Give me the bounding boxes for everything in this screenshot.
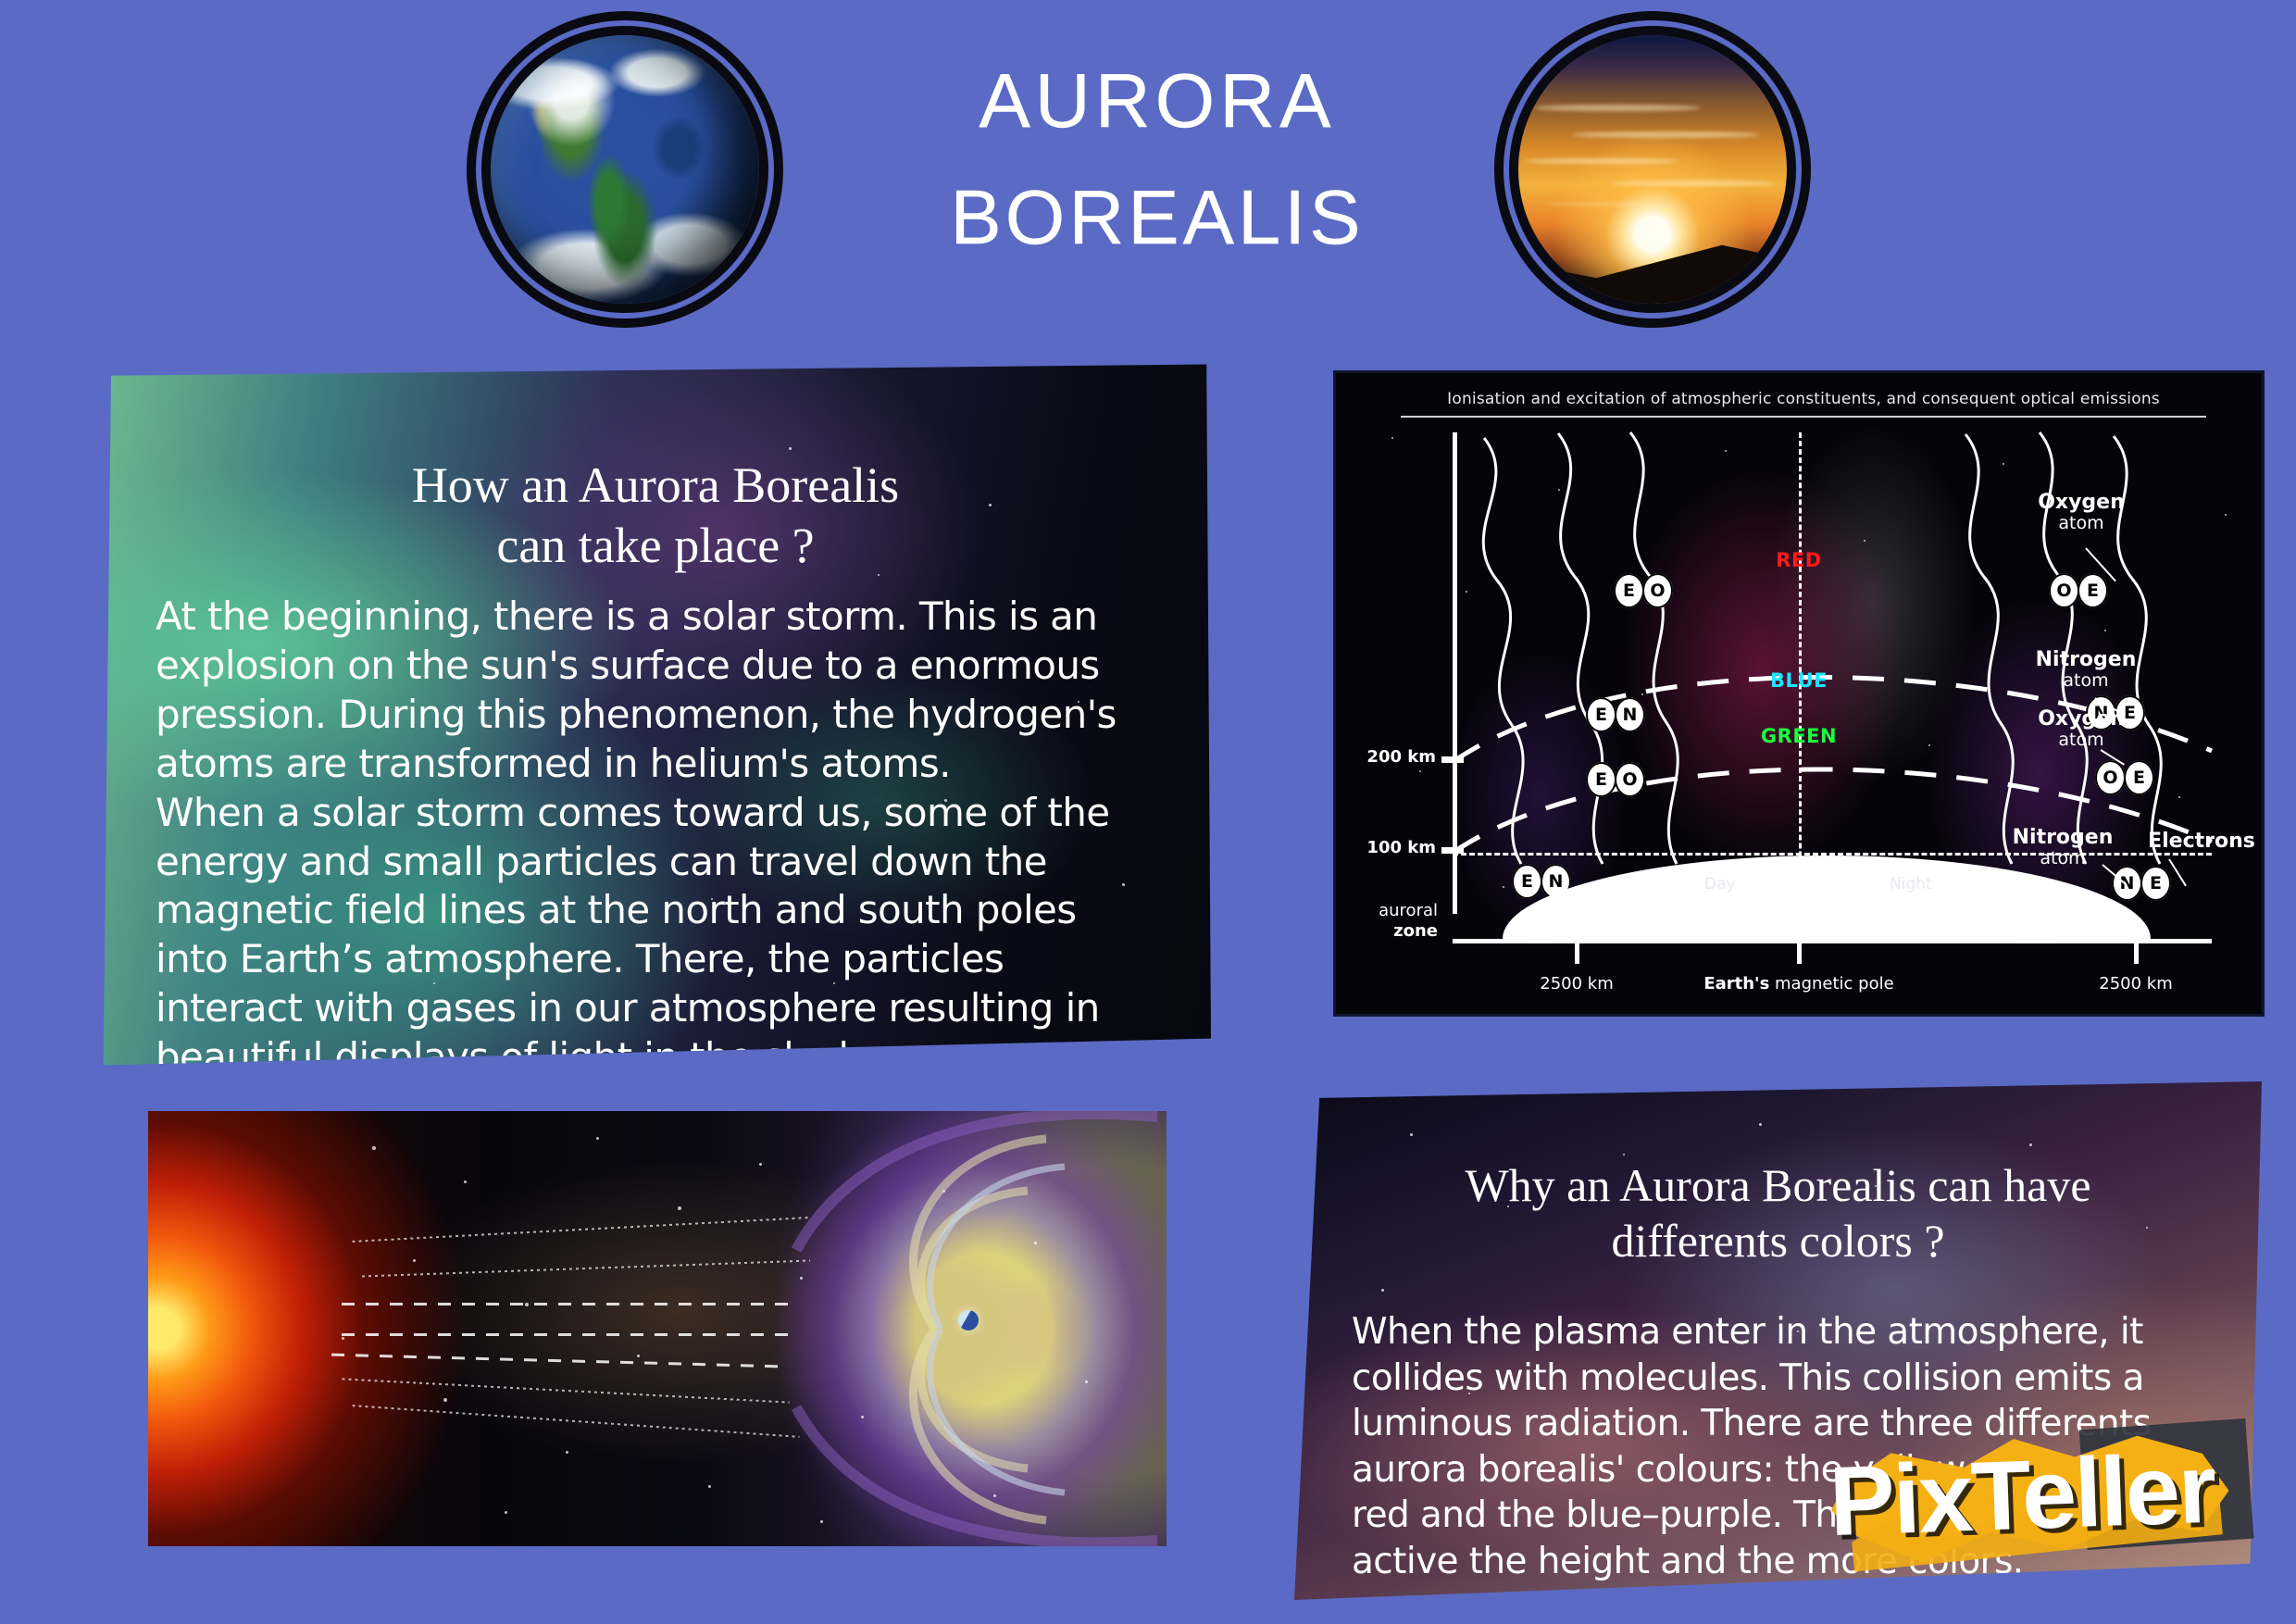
auroral-zone-label-line1: auroral [1338,901,1438,920]
panel-how-aurora-takes-place: How an Aurora Borealis can take place ? … [100,363,1211,1067]
pixteller-watermark: PixTeller [1805,1417,2296,1624]
emission-label-green: GREEN [1761,725,1837,747]
emission-label-blue: BLUE [1770,669,1828,692]
callout-oxygen-sub: atom [2058,730,2103,750]
particle-nitrogen: N [1615,697,1645,732]
x-label-magnetic-pole: Earth's magnetic pole [1703,974,1893,993]
watermark-text: PixTeller [1828,1431,2266,1558]
callout-nitrogen-name: Nitrogen [1993,827,2132,849]
callout-electrons-name: Electrons [2141,831,2262,853]
title-line-aurora: Aurora [815,31,1500,148]
particle-oxygen: O [2095,760,2126,795]
particle-oxygen: O [1615,762,1645,797]
tick-label-100km: 100 km [1336,838,1436,857]
callout-oxygen-top: Oxygen atom [2021,492,2141,532]
particle-pair-nitrogen-electron-2: N E [2112,866,2169,901]
title-line-borealis: Borealis [815,148,1500,265]
callout-electrons: Electrons [2141,831,2262,853]
aurora-emission-diagram: Ionisation and excitation of atmospheric… [1333,370,2265,1017]
callout-nitrogen-top: Nitrogen atom [2021,649,2151,690]
sunset-photo-image [1518,35,1787,304]
x-label-left-2500km: 2500 km [1540,974,1614,993]
callout-oxygen-sub: atom [2058,513,2103,533]
x-label-earths: Earth's [1703,974,1769,993]
callout-oxygen-name: Oxygen [2021,492,2141,514]
page-title: Aurora Borealis [815,31,1500,266]
ground-axis [1453,939,2212,943]
solar-wind-stream [362,1260,810,1278]
earth-globe-image [491,35,759,304]
callout-oxygen-mid: Oxygen atom [2021,708,2141,749]
particle-pair-electron-nitrogen-1: E N [1586,697,1643,732]
callout-nitrogen-sub: atom [2063,670,2108,691]
tick-200km [1441,756,1464,763]
day-label: Day [1704,875,1736,893]
auroral-zone-label-line2: zone [1338,921,1438,941]
solar-wind-stream [342,1303,790,1305]
auroral-zone-dashed-line [1453,853,2212,856]
particle-oxygen: O [2049,573,2079,608]
particle-electron: E [1614,573,1644,608]
altitude-axis [1453,432,1457,914]
particle-pair-oxygen-electron-1: O E [2049,573,2106,608]
x-tick-left [1575,943,1579,964]
emission-label-red: RED [1776,549,1821,571]
callout-nitrogen-sub: atom [2040,848,2085,868]
particle-electron: E [2078,573,2108,608]
tick-label-200km: 200 km [1336,747,1436,767]
solar-wind-stream [331,1354,780,1368]
x-label-right-2500km: 2500 km [2099,974,2173,993]
particle-electron: E [1586,697,1616,732]
x-tick-center [1797,943,1802,964]
panel-why-heading: Why an Aurora Borealis can have differen… [1322,1157,2234,1268]
poster-canvas: Aurora Borealis How an Aurora Borealis c… [0,0,2296,1624]
callout-nitrogen-bottom: Nitrogen atom [1993,827,2132,868]
sunset-graphic [1518,35,1787,304]
callout-nitrogen-name: Nitrogen [2021,649,2151,671]
particle-electron: E [1586,762,1616,797]
particle-electron: E [1512,864,1542,899]
night-label: Night [1890,875,1932,893]
panel-how-heading: How an Aurora Borealis can take place ? [100,456,1211,576]
earth-in-magnetosphere [958,1310,979,1330]
earth-globe-graphic [491,35,759,304]
poster-header: Aurora Borealis [0,0,2296,352]
callout-oxygen-name: Oxygen [2021,708,2141,731]
mountain-ridge-silhouette [1518,218,1787,304]
solar-wind-stream [342,1378,789,1403]
particle-electron: E [2124,760,2154,795]
solar-wind-stream [352,1217,809,1243]
particle-electron: E [2140,866,2171,901]
particle-pair-electron-oxygen-1: E O [1614,573,1671,608]
particle-pair-oxygen-electron-2: O E [2095,760,2152,795]
particle-pair-electron-oxygen-2: E O [1586,762,1643,797]
panel-how-body: At the beginning, there is a solar storm… [156,593,1155,1067]
solar-wind-magnetosphere-image [148,1111,1167,1546]
solar-wind-stream [342,1333,790,1336]
particle-oxygen: O [1642,573,1673,608]
solar-wind-stream [353,1405,800,1438]
x-label-magnetic-pole-text: magnetic pole [1769,974,1893,993]
x-tick-right [2134,943,2139,964]
